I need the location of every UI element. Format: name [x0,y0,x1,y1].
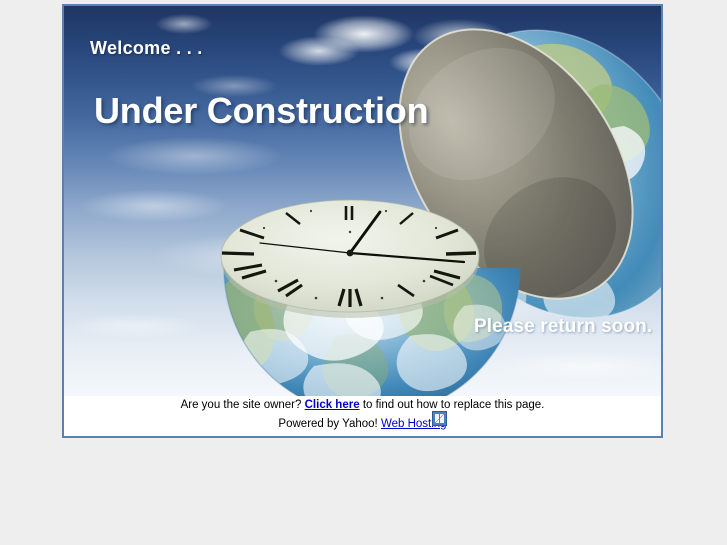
site-owner-prompt: Are you the site owner? Click here to fi… [64,399,661,411]
clock-face [221,200,479,318]
page-root: Welcome . . . Under Construction Please … [0,0,727,545]
powered-by-line: Powered by Yahoo! Web Hosting [64,418,661,430]
powered-by-label: Powered by Yahoo! [278,418,377,430]
owner-prompt-prefix: Are you the site owner? [181,399,302,411]
under-construction-headline: Under Construction [94,90,428,132]
click-here-link[interactable]: Click here [305,399,360,411]
owner-prompt-suffix: to find out how to replace this page. [363,399,545,411]
site-frame: Welcome . . . Under Construction Please … [62,4,663,438]
welcome-text: Welcome . . . [90,38,203,59]
under-construction-banner: Welcome . . . Under Construction Please … [64,6,661,396]
broken-image-tear [439,413,440,424]
please-return-soon-text: Please return soon. [474,316,652,338]
broken-image-icon[interactable] [432,411,447,426]
footer: Are you the site owner? Click here to fi… [64,396,661,436]
